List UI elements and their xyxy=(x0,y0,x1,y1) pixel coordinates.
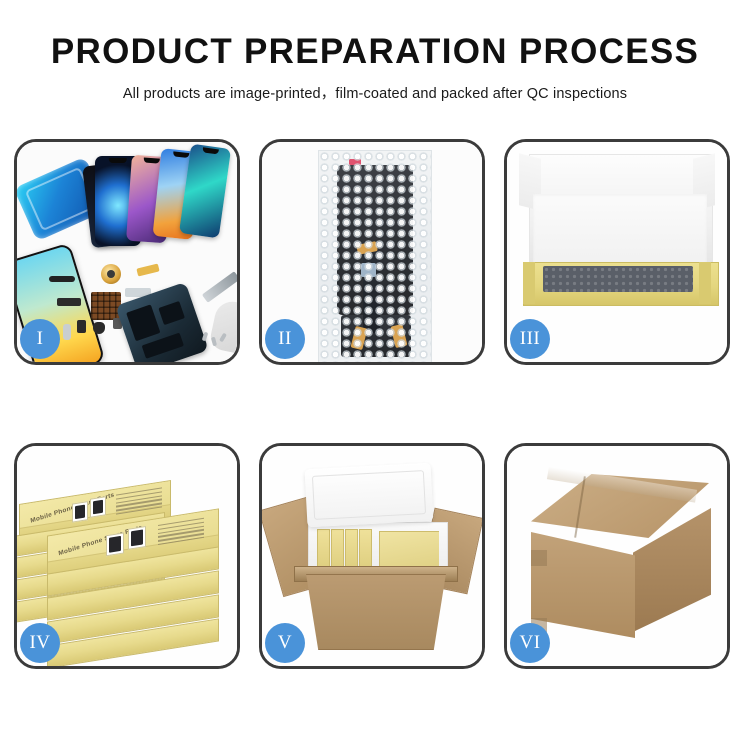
header: PRODUCT PREPARATION PROCESS All products… xyxy=(0,0,750,103)
box-lip-right xyxy=(699,262,711,304)
earpiece-mesh-graphic xyxy=(49,276,75,282)
box-thumb-4 xyxy=(128,526,146,550)
step-badge-6: VI xyxy=(510,623,550,663)
packed-box-graphic-4 xyxy=(359,529,372,571)
carton-corner-mark-top xyxy=(531,550,547,566)
step-badge-5: V xyxy=(265,623,305,663)
packed-box-graphic-3 xyxy=(345,529,358,571)
packed-box-graphic-2 xyxy=(331,529,344,571)
process-step-1: I xyxy=(14,139,240,365)
small-part-graphic-1 xyxy=(77,320,86,333)
process-step-5: V xyxy=(259,443,485,669)
carton-body-graphic xyxy=(300,574,452,650)
small-part-graphic-2 xyxy=(93,322,105,334)
bubble-texture xyxy=(319,151,431,362)
process-step-2: II xyxy=(259,139,485,365)
step-badge-2: II xyxy=(265,319,305,359)
step-badge-4: IV xyxy=(20,623,60,663)
box-thumb-2 xyxy=(90,496,106,518)
step-badge-3: III xyxy=(510,319,550,359)
flex-cable-graphic-3 xyxy=(57,298,81,306)
chip-grid-graphic xyxy=(91,292,121,320)
page-title: PRODUCT PREPARATION PROCESS xyxy=(0,34,750,69)
step-badge-1: I xyxy=(20,319,60,359)
speaker-coil-graphic xyxy=(101,264,121,284)
box-lip-left xyxy=(523,262,535,304)
page-subtitle: All products are image-printed，film-coat… xyxy=(0,82,750,103)
packed-box-graphic-5 xyxy=(379,531,439,571)
process-step-4: Mobile Phone Spare Parts Mobile Phone Sp xyxy=(14,443,240,669)
sim-tray-graphic xyxy=(63,324,71,340)
packed-box-graphic-1 xyxy=(317,529,330,571)
wrapped-part-graphic xyxy=(543,266,693,292)
box-thumb-3 xyxy=(106,532,124,556)
box-thumb-1 xyxy=(72,501,88,523)
bubble-wrap-bag-graphic xyxy=(318,150,432,362)
foam-sheet-graphic xyxy=(533,194,707,266)
screws-graphic xyxy=(203,332,229,350)
process-step-3: III xyxy=(504,139,730,365)
process-step-grid: I II xyxy=(14,139,736,669)
process-step-6: VI xyxy=(504,443,730,669)
product-preparation-infographic: PRODUCT PREPARATION PROCESS All products… xyxy=(0,0,750,750)
styrofoam-lid-graphic xyxy=(305,463,434,528)
